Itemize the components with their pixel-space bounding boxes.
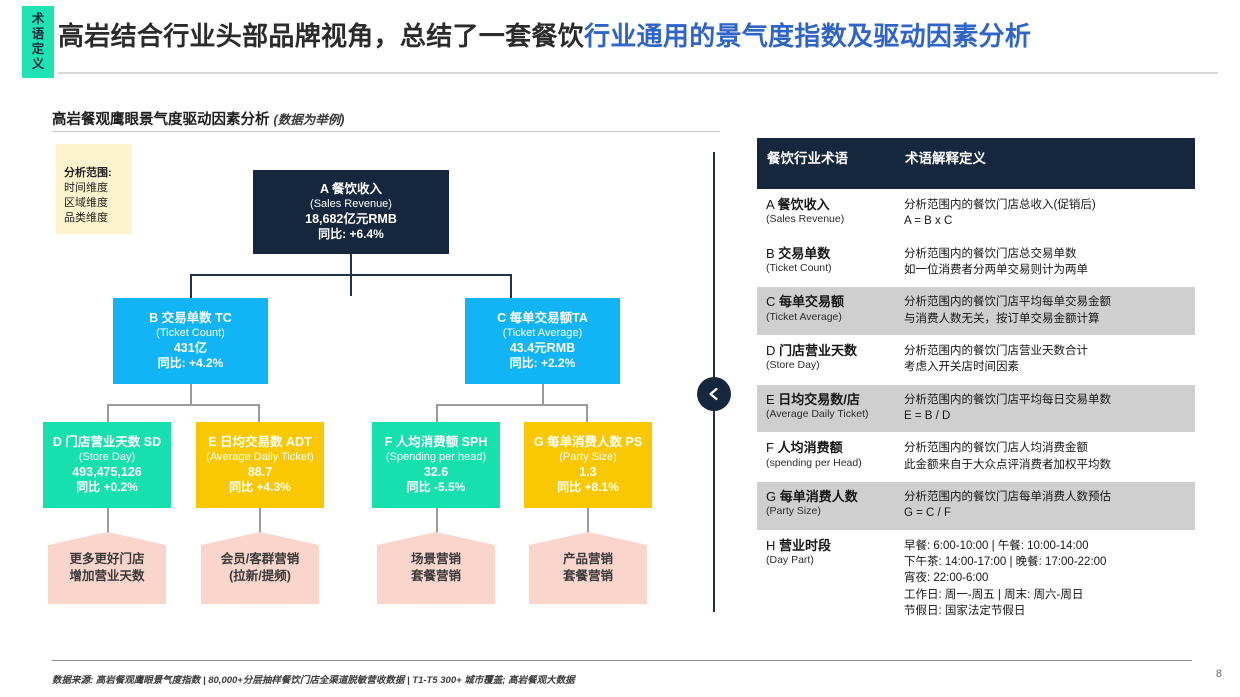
term-letter: H: [766, 538, 779, 553]
term-description: 分析范围内的餐饮门店平均每单交易金额 与消费人数无关，按订单交易金额计算: [904, 294, 1186, 327]
term-letter: C: [766, 294, 779, 309]
term-description: 分析范围内的餐饮门店每单消费人数预估 G = C / F: [904, 489, 1186, 522]
analysis-scope-box: 分析范围: 时间维度 区域维度 品类维度: [56, 144, 132, 234]
table-row: F 人均消费额 (spending per Head) 分析范围内的餐饮门店人均…: [757, 433, 1195, 482]
node-c-english: (Ticket Average): [465, 326, 620, 340]
table-row: C 每单交易额 (Ticket Average) 分析范围内的餐饮门店平均每单交…: [757, 287, 1195, 336]
node-a-sales-revenue[interactable]: A 餐饮收入 (Sales Revenue) 18,682亿元RMB 同比: +…: [253, 170, 449, 254]
table-header-definition: 术语解释定义: [895, 138, 1195, 189]
node-f-yoy: 同比 -5.5%: [372, 480, 500, 495]
term-label: H 营业时段: [766, 538, 886, 554]
section-tab-badge: 术语定义: [22, 6, 54, 78]
connector-b-stem: [190, 384, 192, 406]
term-english: (Party Size): [766, 505, 886, 519]
footer-source: 数据来源: 高岩餐观鹰眼景气度指数 | 80,000+分层抽样餐饮门店全渠道脱敏…: [52, 672, 575, 686]
term-name: 人均消费额: [778, 440, 843, 455]
connector-c-stem: [542, 384, 544, 406]
node-d-store-day[interactable]: D 门店营业天数 SD (Store Day) 493,475,126 同比 +…: [43, 422, 171, 508]
term-description: 分析范围内的餐饮门店总交易单数 如一位消费者分两单交易则计为两单: [904, 246, 1186, 279]
term-description: 分析范围内的餐饮门店平均每日交易单数 E = B / D: [904, 392, 1186, 425]
node-b-english: (Ticket Count): [113, 326, 268, 340]
node-c-value: 43.4元RMB: [465, 340, 620, 356]
term-letter: F: [766, 440, 778, 455]
page-title: 高岩结合行业头部品牌视角，总结了一套餐饮行业通用的景气度指数及驱动因素分析: [58, 16, 1031, 53]
table-row: E 日均交易数/店 (Average Daily Ticket) 分析范围内的餐…: [757, 385, 1195, 434]
table-header-row: 餐饮行业术语 术语解释定义: [757, 138, 1195, 190]
table-row: A 餐饮收入 (Sales Revenue) 分析范围内的餐饮门店总收入(促销后…: [757, 190, 1195, 239]
node-b-value: 431亿: [113, 340, 268, 356]
analysis-scope-title: 分析范围:: [64, 166, 132, 181]
connector-e-action: [259, 508, 261, 534]
node-a-yoy: 同比: +6.4%: [253, 227, 449, 242]
node-d-title: D 门店营业天数 SD: [43, 434, 171, 450]
node-g-value: 1.3: [524, 464, 652, 480]
term-label: G 每单消费人数: [766, 489, 886, 505]
node-g-yoy: 同比 +8.1%: [524, 480, 652, 495]
term-description: 分析范围内的餐饮门店人均消费金额 此金额来自于大众点评消费者加权平均数: [904, 440, 1186, 473]
term-name: 日均交易数/店: [778, 392, 860, 407]
term-name: 餐饮收入: [778, 197, 830, 212]
term-letter: E: [766, 392, 778, 407]
node-d-value: 493,475,126: [43, 464, 171, 480]
node-e-yoy: 同比 +4.3%: [196, 480, 324, 495]
node-a-english: (Sales Revenue): [253, 197, 449, 211]
chevron-left-icon[interactable]: [697, 377, 731, 411]
term-label: E 日均交易数/店: [766, 392, 886, 408]
action-box-1-label: 更多更好门店 增加营业天数: [69, 551, 144, 585]
term-name: 营业时段: [779, 538, 831, 553]
action-box-4[interactable]: 产品营销 套餐营销: [529, 532, 647, 604]
connector-e-drop: [258, 404, 260, 422]
connector-c-bus: [436, 404, 588, 406]
term-letter: B: [766, 246, 778, 261]
term-label: D 门店营业天数: [766, 343, 886, 359]
analysis-scope-line-3: 品类维度: [64, 211, 132, 226]
node-f-spending-per-head[interactable]: F 人均消费额 SPH (Spending per head) 32.6 同比 …: [372, 422, 500, 508]
driver-tree-diagram: 分析范围: 时间维度 区域维度 品类维度 A 餐饮收入 (Sales Reven…: [0, 136, 720, 636]
connector-a-bus: [190, 274, 512, 276]
term-description: 早餐: 6:00-10:00 | 午餐: 10:00-14:00 下午茶: 14…: [904, 538, 1186, 620]
node-f-value: 32.6: [372, 464, 500, 480]
node-c-title: C 每单交易额TA: [465, 310, 620, 326]
action-box-1[interactable]: 更多更好门店 增加营业天数: [48, 532, 166, 604]
node-f-english: (Spending per head): [372, 450, 500, 464]
connector-c-drop: [510, 274, 512, 298]
term-label: B 交易单数: [766, 246, 886, 262]
node-e-value: 88.7: [196, 464, 324, 480]
connector-g-action: [587, 508, 589, 534]
connector-d-drop: [107, 404, 109, 422]
term-english: (Ticket Average): [766, 311, 886, 325]
node-b-yoy: 同比: +4.2%: [113, 356, 268, 371]
term-name: 每单消费人数: [780, 489, 858, 504]
analysis-scope-line-1: 时间维度: [64, 181, 132, 196]
chart-subtitle: 高岩餐观鹰眼景气度驱动因素分析 (数据为举例): [52, 108, 344, 129]
node-a-title: A 餐饮收入: [253, 181, 449, 197]
term-english: (Sales Revenue): [766, 213, 886, 227]
action-box-2[interactable]: 会员/客群营销 (拉新/提频): [201, 532, 319, 604]
node-e-title: E 日均交易数 ADT: [196, 434, 324, 450]
node-d-english: (Store Day): [43, 450, 171, 464]
node-f-title: F 人均消费额 SPH: [372, 434, 500, 450]
table-row: D 门店营业天数 (Store Day) 分析范围内的餐饮门店营业天数合计 考虑…: [757, 336, 1195, 385]
term-letter: G: [766, 489, 780, 504]
node-g-title: G 每单消费人数 PS: [524, 434, 652, 450]
term-english: (spending per Head): [766, 457, 886, 471]
term-label: F 人均消费额: [766, 440, 886, 456]
action-box-4-label: 产品营销 套餐营销: [563, 551, 613, 585]
node-d-yoy: 同比 +0.2%: [43, 480, 171, 495]
term-description: 分析范围内的餐饮门店总收入(促销后) A = B x C: [904, 197, 1186, 230]
table-row: B 交易单数 (Ticket Count) 分析范围内的餐饮门店总交易单数 如一…: [757, 239, 1195, 288]
node-b-ticket-count[interactable]: B 交易单数 TC (Ticket Count) 431亿 同比: +4.2%: [113, 298, 268, 384]
term-english: (Average Daily Ticket): [766, 408, 886, 422]
header-divider: [58, 72, 1218, 74]
table-row: G 每单消费人数 (Party Size) 分析范围内的餐饮门店每单消费人数预估…: [757, 482, 1195, 531]
action-box-2-label: 会员/客群营销 (拉新/提频): [221, 551, 299, 585]
subtitle-divider: [52, 131, 720, 132]
term-name: 门店营业天数: [779, 343, 857, 358]
page-title-plain: 高岩结合行业头部品牌视角，总结了一套餐饮: [58, 21, 584, 51]
term-name: 每单交易额: [779, 294, 844, 309]
node-e-english: (Average Daily Ticket): [196, 450, 324, 464]
term-letter: A: [766, 197, 778, 212]
connector-g-drop: [586, 404, 588, 422]
term-label: C 每单交易额: [766, 294, 886, 310]
action-box-3[interactable]: 场景营销 套餐营销: [377, 532, 495, 604]
node-a-value: 18,682亿元RMB: [253, 211, 449, 227]
slide-page: 术语定义 高岩结合行业头部品牌视角，总结了一套餐饮行业通用的景气度指数及驱动因素…: [0, 0, 1240, 697]
page-number: 8: [1216, 668, 1222, 680]
connector-b-bus: [107, 404, 260, 406]
term-description: 分析范围内的餐饮门店营业天数合计 考虑入开关店时间因素: [904, 343, 1186, 376]
glossary-table: 餐饮行业术语 术语解释定义 A 餐饮收入 (Sales Revenue) 分析范…: [757, 138, 1195, 628]
node-b-title: B 交易单数 TC: [113, 310, 268, 326]
node-g-party-size[interactable]: G 每单消费人数 PS (Party Size) 1.3 同比 +8.1%: [524, 422, 652, 508]
node-c-yoy: 同比: +2.2%: [465, 356, 620, 371]
term-english: (Day Part): [766, 554, 886, 568]
term-name: 交易单数: [778, 246, 830, 261]
term-english: (Store Day): [766, 359, 886, 373]
connector-f-action: [436, 508, 438, 534]
footer-divider: [52, 660, 1192, 661]
node-e-average-daily-ticket[interactable]: E 日均交易数 ADT (Average Daily Ticket) 88.7 …: [196, 422, 324, 508]
table-header-term: 餐饮行业术语: [757, 138, 895, 189]
term-letter: D: [766, 343, 779, 358]
term-label: A 餐饮收入: [766, 197, 886, 213]
analysis-scope-line-2: 区域维度: [64, 196, 132, 211]
chart-subtitle-text: 高岩餐观鹰眼景气度驱动因素分析: [52, 112, 270, 128]
term-english: (Ticket Count): [766, 262, 886, 276]
table-row: H 营业时段 (Day Part) 早餐: 6:00-10:00 | 午餐: 1…: [757, 531, 1195, 629]
chart-subtitle-note: (数据为举例): [274, 113, 345, 127]
node-g-english: (Party Size): [524, 450, 652, 464]
node-c-ticket-average[interactable]: C 每单交易额TA (Ticket Average) 43.4元RMB 同比: …: [465, 298, 620, 384]
connector-b-drop: [190, 274, 192, 298]
connector-d-action: [107, 508, 109, 534]
page-title-highlight: 行业通用的景气度指数及驱动因素分析: [584, 21, 1031, 51]
connector-f-drop: [436, 404, 438, 422]
action-box-3-label: 场景营销 套餐营销: [411, 551, 461, 585]
section-tab-label: 术语定义: [31, 12, 45, 72]
